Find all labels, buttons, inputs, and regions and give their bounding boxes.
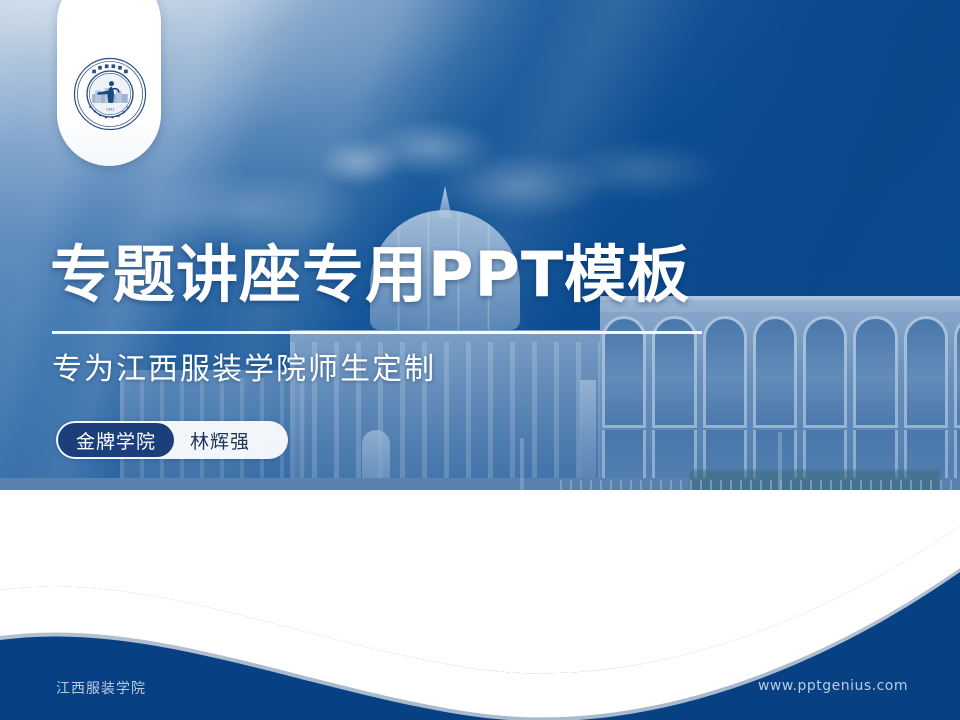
page-subtitle: 专为江西服装学院师生定制 (52, 348, 436, 392)
title-divider-rule (52, 331, 702, 334)
footer-institution: 江西服装学院 (56, 678, 146, 698)
footer-website: www.pptgenius.com (758, 678, 908, 694)
svg-text:1991: 1991 (106, 107, 114, 111)
presentation-slide: 1991 专题讲座专用PPT模板 专为江西服装学院师生定制 金牌学院 林辉强 江… (0, 0, 960, 720)
presenter-badge: 金牌学院 林辉强 (56, 421, 288, 459)
university-seal-logo: 1991 (73, 57, 147, 131)
badge-tag-label: 金牌学院 (58, 423, 174, 457)
presenter-name: 林辉强 (190, 427, 250, 454)
page-title: 专题讲座专用PPT模板 (50, 238, 690, 312)
